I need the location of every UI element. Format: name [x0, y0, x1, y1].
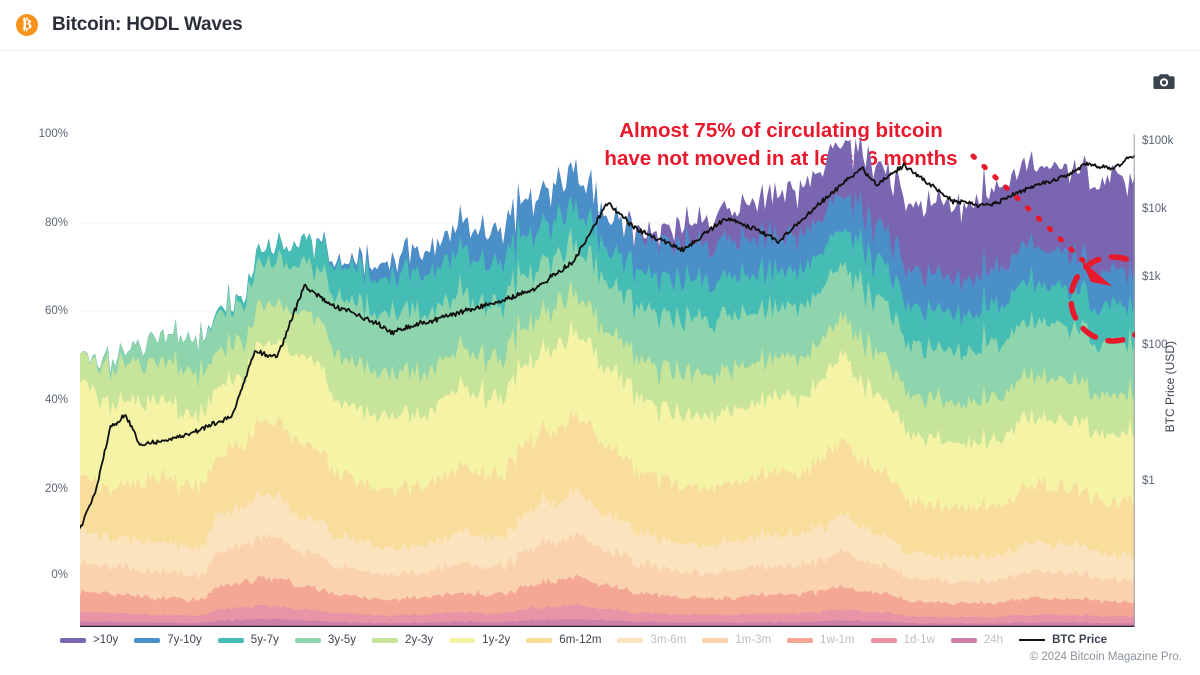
legend-label: 5y-7y — [251, 634, 279, 646]
legend-item[interactable]: 3y-5y — [295, 634, 356, 646]
y-tick-0: 0% — [20, 569, 68, 581]
legend-color-swatch — [526, 638, 552, 643]
chart-page: ₿ Bitcoin: HODL Waves COIN MAGAZINE Almo… — [0, 0, 1200, 675]
legend-label: 1y-2y — [482, 634, 510, 646]
y2-tick-10k: $10k — [1142, 203, 1167, 215]
legend-label: 1d-1w — [904, 634, 935, 646]
legend-color-swatch — [787, 638, 813, 643]
page-header: ₿ Bitcoin: HODL Waves — [0, 0, 1200, 51]
legend-item[interactable]: >10y — [60, 634, 118, 646]
legend-label: >10y — [93, 634, 118, 646]
plot-area — [80, 134, 1135, 627]
legend-label: 3m-6m — [650, 634, 686, 646]
y2-tick-100k: $100k — [1142, 135, 1173, 147]
legend-color-swatch — [134, 638, 160, 643]
legend-item[interactable]: 1y-2y — [449, 634, 510, 646]
chart-container: COIN MAGAZINE Almost 75% of circulating … — [0, 51, 1200, 675]
legend-item[interactable]: 1m-3m — [702, 634, 771, 646]
legend-color-swatch — [449, 638, 475, 643]
y-tick-80: 80% — [20, 217, 68, 229]
legend-color-swatch — [702, 638, 728, 643]
y-tick-60: 60% — [20, 305, 68, 317]
y-tick-20: 20% — [20, 483, 68, 495]
bitcoin-glyph: ₿ — [22, 17, 32, 34]
legend-item[interactable]: 5y-7y — [218, 634, 279, 646]
hodl-waves-svg — [80, 134, 1135, 627]
legend-item[interactable]: 1d-1w — [871, 634, 935, 646]
legend-color-swatch — [295, 638, 321, 643]
legend-label: 3y-5y — [328, 634, 356, 646]
y2-axis-title: BTC Price (USD) — [1163, 341, 1177, 432]
legend-item[interactable]: 1w-1m — [787, 634, 855, 646]
legend-label: 2y-3y — [405, 634, 433, 646]
legend-item[interactable]: 7y-10y — [134, 634, 202, 646]
y-tick-100: 100% — [20, 128, 68, 140]
legend-label: 1w-1m — [820, 634, 855, 646]
legend-label: 7y-10y — [167, 634, 202, 646]
legend-label: 1m-3m — [735, 634, 771, 646]
chart-legend: >10y7y-10y5y-7y3y-5y2y-3y1y-2y6m-12m3m-6… — [60, 629, 1100, 651]
legend-color-swatch — [951, 638, 977, 643]
legend-label: 24h — [984, 634, 1003, 646]
legend-color-swatch — [372, 638, 398, 643]
legend-label: BTC Price — [1052, 634, 1107, 646]
legend-item[interactable]: 24h — [951, 634, 1003, 646]
legend-label: 6m-12m — [559, 634, 601, 646]
legend-item[interactable]: BTC Price — [1019, 634, 1107, 646]
y2-tick-1: $1 — [1142, 475, 1155, 487]
legend-color-swatch — [60, 638, 86, 643]
page-title: Bitcoin: HODL Waves — [52, 14, 242, 36]
legend-color-swatch — [617, 638, 643, 643]
legend-line-swatch — [1019, 639, 1045, 641]
y2-tick-1k: $1k — [1142, 271, 1161, 283]
legend-item[interactable]: 6m-12m — [526, 634, 601, 646]
bitcoin-icon: ₿ — [16, 14, 38, 36]
stacked-areas — [80, 134, 1135, 627]
y-tick-40: 40% — [20, 394, 68, 406]
legend-color-swatch — [218, 638, 244, 643]
legend-item[interactable]: 3m-6m — [617, 634, 686, 646]
footer-copyright: © 2024 Bitcoin Magazine Pro. — [1030, 651, 1182, 663]
legend-item[interactable]: 2y-3y — [372, 634, 433, 646]
legend-color-swatch — [871, 638, 897, 643]
